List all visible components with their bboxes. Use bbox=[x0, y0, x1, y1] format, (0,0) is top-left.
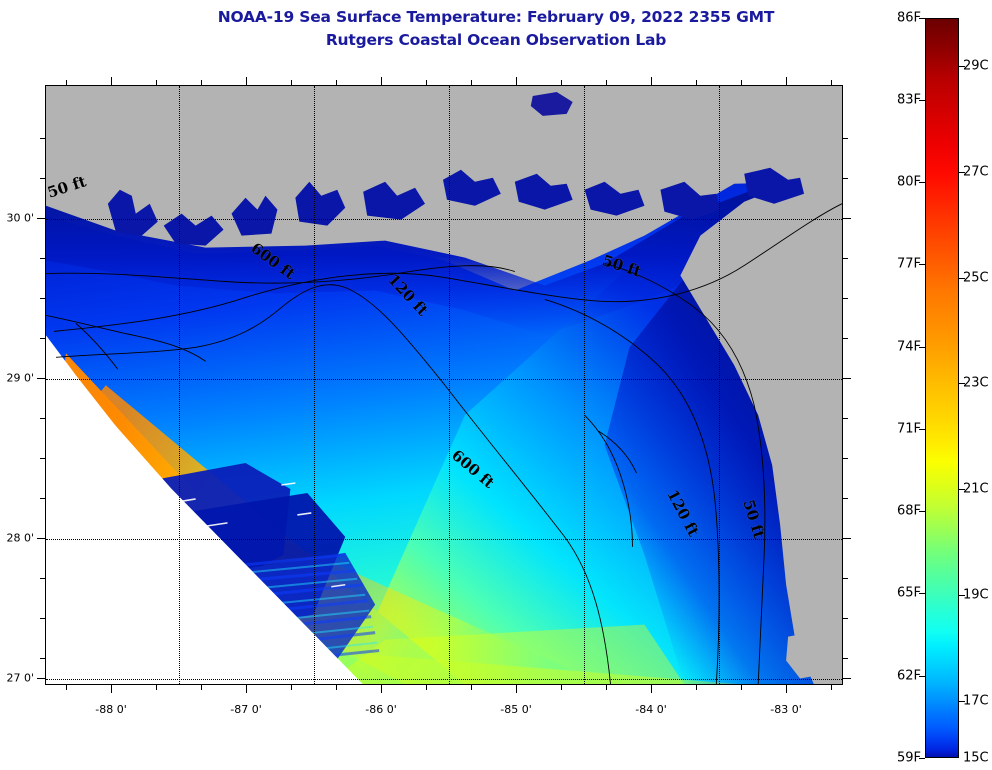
temperature-colorbar[interactable]: 86F 83F 80F 77F 74F 71F 68F 65F 62F 59F … bbox=[925, 18, 959, 758]
y-axis-label: 29 0' bbox=[0, 372, 34, 385]
contour-label: 120 ft bbox=[384, 271, 431, 320]
colorbar-f-label: 65F bbox=[897, 586, 921, 601]
colorbar-f-label: 86F bbox=[897, 11, 921, 26]
colorbar-f-label: 62F bbox=[897, 669, 921, 684]
y-axis-label: 30 0' bbox=[0, 212, 34, 225]
contour-label: 600 ft bbox=[247, 239, 298, 283]
colorbar-f-label: 68F bbox=[897, 504, 921, 519]
y-axis-label: 27 0' bbox=[0, 672, 34, 685]
colorbar-c-label: 19C bbox=[963, 588, 989, 603]
colorbar-c-label: 25C bbox=[963, 271, 989, 286]
page-title-line1: NOAA-19 Sea Surface Temperature: Februar… bbox=[0, 8, 992, 26]
colorbar-f-label: 71F bbox=[897, 422, 921, 437]
contour-label: 50 ft bbox=[739, 497, 768, 540]
colorbar-f-label: 77F bbox=[897, 257, 921, 272]
x-axis-label: -84 0' bbox=[635, 703, 667, 716]
x-axis-label: -87 0' bbox=[230, 703, 262, 716]
colorbar-f-label: 74F bbox=[897, 340, 921, 355]
sst-map-plot[interactable]: 50 ft 600 ft 120 ft 50 ft 600 ft 120 ft … bbox=[45, 85, 843, 685]
sst-map-page: NOAA-19 Sea Surface Temperature: Februar… bbox=[0, 0, 992, 770]
colorbar-c-label: 23C bbox=[963, 376, 989, 391]
colorbar-c-label: 27C bbox=[963, 165, 989, 180]
contour-label: 120 ft bbox=[663, 487, 702, 540]
contour-label: 50 ft bbox=[600, 251, 643, 280]
x-axis-label: -83 0' bbox=[770, 703, 802, 716]
sst-raster: 50 ft 600 ft 120 ft 50 ft 600 ft 120 ft … bbox=[46, 86, 842, 684]
colorbar-f-label: 80F bbox=[897, 175, 921, 190]
page-title-line2: Rutgers Coastal Ocean Observation Lab bbox=[0, 31, 992, 49]
contour-label: 50 ft bbox=[45, 172, 88, 201]
colorbar-f-label: 83F bbox=[897, 93, 921, 108]
x-axis-label: -86 0' bbox=[365, 703, 397, 716]
contour-labels: 50 ft 600 ft 120 ft 50 ft 600 ft 120 ft … bbox=[46, 86, 842, 684]
colorbar-gradient bbox=[925, 18, 959, 758]
y-axis-label: 28 0' bbox=[0, 532, 34, 545]
colorbar-f-label: 59F bbox=[897, 751, 921, 766]
colorbar-c-label: 15C bbox=[963, 751, 989, 766]
x-axis-label: -88 0' bbox=[95, 703, 127, 716]
contour-label: 600 ft bbox=[448, 446, 498, 492]
colorbar-c-label: 21C bbox=[963, 482, 989, 497]
colorbar-c-label: 17C bbox=[963, 694, 989, 709]
x-axis-label: -85 0' bbox=[500, 703, 532, 716]
colorbar-c-label: 29C bbox=[963, 59, 989, 74]
